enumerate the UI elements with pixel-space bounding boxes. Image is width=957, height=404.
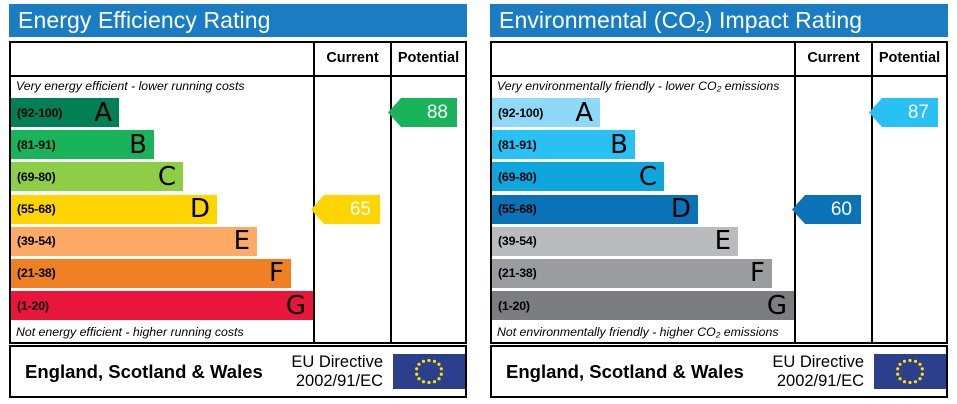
env-bands-column: Very environmentally friendly - lower CO…	[492, 77, 794, 342]
epc-charts-page: Energy Efficiency Rating Current Potenti…	[0, 0, 957, 404]
band-range: (92-100)	[492, 106, 543, 120]
env-header-blank-cell	[492, 43, 794, 75]
band-row: (1-20) G	[492, 291, 794, 320]
band-row: (92-100) A	[492, 98, 600, 127]
energy-directive-line2: 2002/91/EC	[289, 372, 383, 391]
energy-chart-grid: Current Potential Very energy efficient …	[9, 41, 467, 344]
band-range: (39-54)	[11, 234, 56, 248]
band-range: (21-38)	[11, 266, 56, 280]
band-row: (55-68) D	[11, 195, 217, 224]
energy-header-potential: Potential	[390, 43, 465, 75]
chart-title-environmental: Environmental (CO2) Impact Rating	[490, 4, 948, 37]
band-letter: E	[715, 228, 731, 254]
band-range: (1-20)	[492, 299, 530, 313]
env-header-potential: Potential	[871, 43, 946, 75]
band-row: (69-80) C	[11, 162, 183, 191]
band-row: (81-91) B	[11, 130, 154, 159]
energy-body-row: Very energy efficient - lower running co…	[11, 77, 465, 342]
env-footer-directive: EU Directive 2002/91/EC	[770, 353, 864, 391]
energy-potential-column: 88	[390, 77, 465, 342]
chart-title-energy-text: Energy Efficiency Rating	[18, 7, 271, 33]
band-row: (1-20) G	[11, 291, 313, 320]
energy-caption-top: Very energy efficient - lower running co…	[11, 79, 245, 93]
energy-header-current: Current	[313, 43, 390, 75]
chart-title-env-tail: ) Impact Rating	[705, 7, 862, 33]
env-potential-column: 87	[871, 77, 946, 342]
band-letter: A	[94, 100, 112, 126]
band-range: (92-100)	[11, 106, 62, 120]
band-row: (55-68) D	[492, 195, 698, 224]
band-range: (21-38)	[492, 266, 537, 280]
env-footer: England, Scotland & Wales EU Directive 2…	[490, 345, 948, 398]
chart-title-energy: Energy Efficiency Rating	[9, 4, 467, 37]
band-range: (39-54)	[492, 234, 537, 248]
energy-footer-region: England, Scotland & Wales	[11, 347, 263, 396]
energy-efficiency-rating-chart: Energy Efficiency Rating Current Potenti…	[0, 0, 476, 404]
energy-caption-bottom: Not energy efficient - higher running co…	[11, 325, 244, 339]
eu-flag-icon	[393, 354, 465, 389]
band-row: (92-100) A	[11, 98, 119, 127]
energy-header-blank-cell	[11, 43, 313, 75]
eu-flag-icon	[874, 354, 946, 389]
band-letter: D	[671, 196, 691, 222]
energy-band-list: (92-100) A (81-91) B (69-80) C (55-68)	[11, 98, 313, 323]
band-letter: G	[767, 293, 787, 319]
band-letter: E	[234, 228, 250, 254]
energy-footer: England, Scotland & Wales EU Directive 2…	[9, 345, 467, 398]
env-potential-arrow: 87	[869, 98, 938, 127]
energy-current-column: 65	[313, 77, 390, 342]
energy-header-row: Current Potential	[11, 43, 465, 77]
band-letter: A	[575, 100, 593, 126]
env-body-row: Very environmentally friendly - lower CO…	[492, 77, 946, 342]
band-row: (39-54) E	[492, 227, 738, 256]
band-letter: B	[129, 132, 147, 158]
env-directive-line1: EU Directive	[770, 353, 864, 372]
band-range: (69-80)	[492, 170, 537, 184]
env-header-current: Current	[794, 43, 871, 75]
energy-directive-line1: EU Directive	[289, 353, 383, 372]
env-caption-bottom: Not environmentally friendly - higher CO…	[492, 325, 778, 339]
chart-title-env-text: Environmental (CO	[499, 7, 696, 33]
env-band-list: (92-100) A (81-91) B (69-80) C (55-68)	[492, 98, 794, 323]
band-letter: F	[750, 260, 765, 286]
band-range: (55-68)	[11, 202, 56, 216]
env-header-row: Current Potential	[492, 43, 946, 77]
band-row: (39-54) E	[11, 227, 257, 256]
band-range: (55-68)	[492, 202, 537, 216]
band-row: (21-38) F	[11, 259, 291, 288]
band-row: (69-80) C	[492, 162, 664, 191]
chart-title-env-subscript: 2	[696, 18, 704, 35]
energy-footer-directive: EU Directive 2002/91/EC	[289, 353, 383, 391]
env-current-column: 60	[794, 77, 871, 342]
band-letter: F	[269, 260, 284, 286]
energy-potential-arrow: 88	[388, 98, 457, 127]
env-footer-region: England, Scotland & Wales	[492, 347, 744, 396]
band-letter: D	[190, 196, 210, 222]
environmental-impact-rating-chart: Environmental (CO2) Impact Rating Curren…	[481, 0, 957, 404]
band-range: (1-20)	[11, 299, 49, 313]
band-range: (81-91)	[11, 138, 56, 152]
energy-current-arrow: 65	[311, 195, 380, 224]
band-letter: C	[639, 164, 657, 190]
env-directive-line2: 2002/91/EC	[770, 372, 864, 391]
band-letter: G	[286, 293, 306, 319]
band-row: (21-38) F	[492, 259, 772, 288]
env-caption-top: Very environmentally friendly - lower CO…	[492, 79, 779, 93]
env-current-arrow: 60	[792, 195, 861, 224]
band-range: (81-91)	[492, 138, 537, 152]
band-row: (81-91) B	[492, 130, 635, 159]
band-letter: B	[610, 132, 628, 158]
band-letter: C	[158, 164, 176, 190]
energy-bands-column: Very energy efficient - lower running co…	[11, 77, 313, 342]
environmental-chart-grid: Current Potential Very environmentally f…	[490, 41, 948, 344]
band-range: (69-80)	[11, 170, 56, 184]
